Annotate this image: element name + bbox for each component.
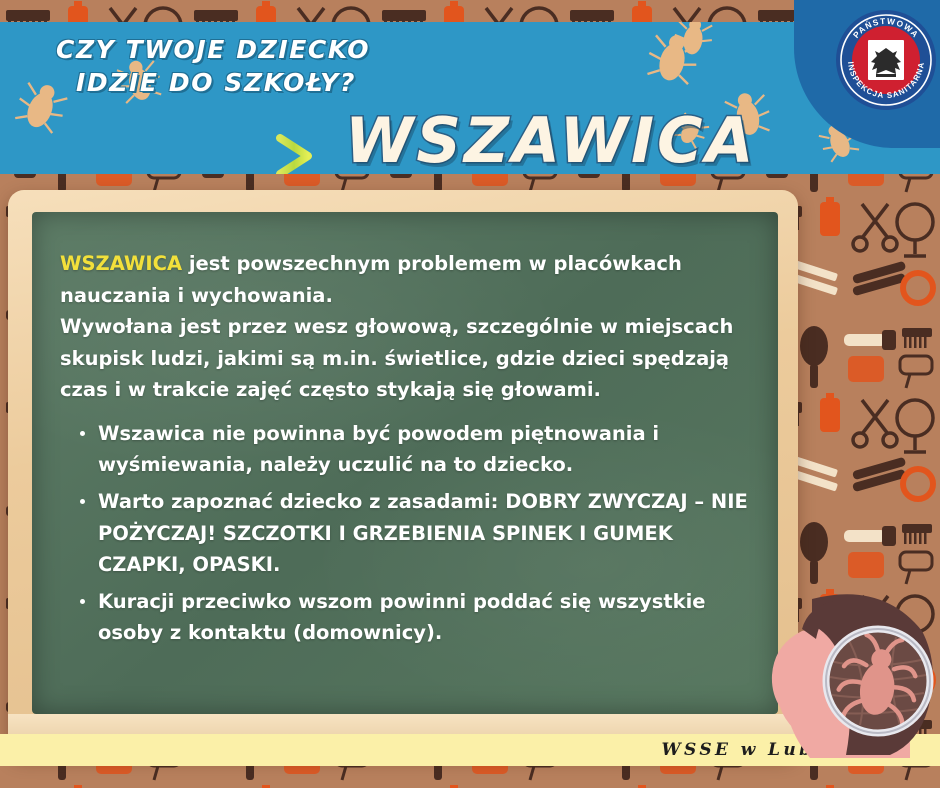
girl-head-with-magnifier-icon bbox=[750, 573, 940, 758]
headline-line-2: IDZIE DO SZKOŁY? bbox=[76, 67, 370, 100]
list-item: Warto zapoznać dziecko z zasadami: DOBRY… bbox=[78, 486, 754, 581]
intro-paragraph-1: WSZAWICA jest powszechnym problemem w pl… bbox=[60, 248, 754, 311]
intro-paragraph-2: Wywołana jest przez wesz głowową, szczeg… bbox=[60, 311, 754, 406]
panstwowa-inspekcja-sanitarna-logo: PAŃSTWOWA INSPEKCJA SANITARNA bbox=[834, 8, 938, 112]
poster-root: CZY TWOJE DZIECKO IDZIE DO SZKOŁY? WSZAW… bbox=[0, 0, 940, 788]
chalkboard-frame: WSZAWICA jest powszechnym problemem w pl… bbox=[8, 190, 798, 756]
list-item: Kuracji przeciwko wszom powinni poddać s… bbox=[78, 586, 754, 649]
logo-container: PAŃSTWOWA INSPEKCJA SANITARNA bbox=[804, 0, 940, 156]
chalkboard-surface: WSZAWICA jest powszechnym problemem w pl… bbox=[32, 212, 778, 714]
banner-headline: CZY TWOJE DZIECKO IDZIE DO SZKOŁY? bbox=[56, 34, 370, 99]
banner-title: WSZAWICA bbox=[345, 104, 757, 174]
list-item: Wszawica nie powinna być powodem piętnow… bbox=[78, 418, 754, 481]
keyword-wszawica: WSZAWICA bbox=[60, 252, 182, 275]
intro-paragraphs: WSZAWICA jest powszechnym problemem w pl… bbox=[60, 248, 754, 406]
advice-list: Wszawica nie powinna być powodem piętnow… bbox=[78, 418, 754, 649]
right-arrow-icon bbox=[168, 134, 318, 174]
headline-line-1: CZY TWOJE DZIECKO bbox=[56, 34, 370, 67]
